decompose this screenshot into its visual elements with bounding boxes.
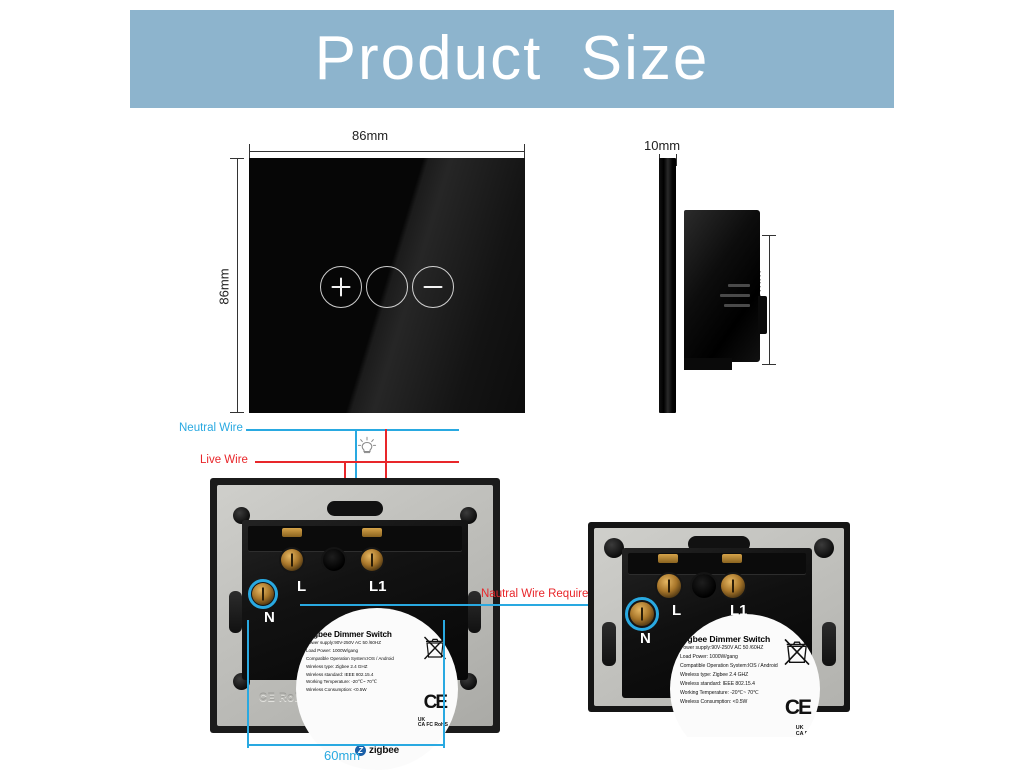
increase-button[interactable] — [320, 266, 362, 308]
neutral-wire-label: Neutral Wire — [179, 422, 243, 434]
inset-label-l: L — [672, 602, 681, 619]
inset-ce-mark: CE — [785, 696, 810, 720]
inset-screw-hole — [604, 538, 624, 558]
terminal-clamp-l — [282, 528, 302, 537]
front-height-tick-top — [230, 158, 244, 159]
zigbee-wordmark: zigbee — [369, 745, 399, 756]
live-wire-horizontal — [255, 461, 459, 463]
inset-spec-line: Wireless type: Zigbee 2.4 GHZ — [680, 671, 815, 680]
side-thickness-label: 10mm — [644, 138, 680, 153]
front-width-tick-left — [249, 144, 250, 158]
spec-line: Working Temperature: -20℃~ 70℃ — [306, 678, 452, 686]
inset-clamp-l — [658, 554, 678, 563]
mount-leader-left — [247, 620, 249, 712]
power-button[interactable] — [366, 266, 408, 308]
ca-mark: CA — [418, 722, 425, 728]
front-height-dim-line — [237, 158, 238, 413]
top-mounting-slot — [327, 501, 383, 516]
product-size-page: Product Size 86mm 86mm 10mm 25mm — [0, 0, 1024, 768]
spec-line: Wireless type: Zigbee 2.4 GHZ — [306, 663, 452, 671]
page-banner: Product Size — [130, 10, 894, 108]
neutral-terminal-highlight — [248, 579, 278, 609]
vent-slot — [720, 294, 750, 297]
inset-product-spec-label: Zigbee Dimmer Switch Power supply:90V-25… — [670, 614, 820, 737]
side-module-notch — [684, 358, 732, 370]
switch-front-view — [249, 158, 525, 413]
inset-fc-mark: FC — [805, 731, 812, 737]
neutral-wire-horizontal — [246, 429, 459, 431]
front-height-label: 86mm — [217, 268, 232, 304]
inset-clamp-l1 — [722, 554, 742, 563]
side-clip-right — [468, 591, 481, 633]
plus-icon-vertical — [340, 278, 342, 297]
inset-outer-frame: L L1 N Zigbee Dimmer Switch Power supply… — [588, 522, 850, 712]
screw-slot — [371, 554, 373, 567]
mount-width-label: 60mm — [324, 748, 360, 763]
terminal-hole-center — [323, 549, 345, 571]
product-spec-label: Zigbee Dimmer Switch Power supply:90V-25… — [296, 608, 458, 770]
inset-crossed-out-wheelie-bin-icon — [782, 636, 812, 668]
minus-icon — [424, 286, 443, 288]
touch-button-row — [249, 264, 525, 310]
inset-screw-hole — [814, 538, 834, 558]
light-bulb-icon — [356, 434, 378, 458]
inset-terminal-hole — [692, 574, 716, 598]
terminal-label-l: L — [297, 578, 306, 595]
vent-slot — [728, 284, 750, 287]
screw-slot — [291, 554, 293, 567]
inset-electronics-module: L L1 N Zigbee Dimmer Switch Power supply… — [622, 548, 812, 698]
terminal-label-l1: L1 — [369, 578, 387, 595]
screw-slot — [732, 580, 734, 593]
inset-label-n: N — [640, 630, 651, 647]
terminal-label-n: N — [264, 609, 275, 626]
inset-neutral-highlight — [625, 597, 659, 631]
terminal-screw-l — [281, 549, 303, 571]
front-width-dim-line — [249, 151, 525, 152]
live-wire-label: Live Wire — [200, 454, 248, 466]
terminal-screw-l1 — [361, 549, 383, 571]
inset-terminal-l — [657, 574, 681, 598]
inset-side-clip-right — [822, 622, 836, 666]
inset-compliance-marks: UK CA FC — [796, 726, 812, 737]
front-width-label: 86mm — [352, 128, 388, 143]
front-height-tick-bottom — [230, 412, 244, 413]
mount-width-dim-line — [247, 744, 444, 746]
inset-terminal-l1 — [721, 574, 745, 598]
front-glass-panel — [249, 158, 525, 413]
front-width-tick-right — [524, 144, 525, 158]
side-clip-left — [229, 591, 242, 633]
side-back-module — [684, 210, 760, 362]
switch-back-view-zoom: L L1 N Zigbee Dimmer Switch Power supply… — [588, 522, 850, 737]
side-glass-plate — [659, 158, 676, 413]
vent-slot — [724, 304, 750, 307]
neutral-required-leader — [300, 604, 590, 606]
inset-side-clip-left — [602, 622, 616, 666]
decrease-button[interactable] — [412, 266, 454, 308]
fc-mark: FC — [426, 722, 433, 728]
mount-leader-right — [443, 620, 445, 712]
inset-ca-mark: CA — [796, 731, 804, 737]
zigbee-brand: Z zigbee — [296, 745, 458, 756]
neutral-required-label: Nautral Wire Required — [481, 588, 595, 600]
switch-side-view — [659, 158, 819, 413]
terminal-clamp-l1 — [362, 528, 382, 537]
spec-line: Wireless standard: IEEE 802.15.4 — [306, 671, 452, 679]
rohs-mark: RoHS — [434, 722, 448, 728]
page-title: Product Size — [315, 28, 710, 90]
screw-slot — [668, 580, 670, 593]
back-electronics-module: L L1 N Zigbee Dimmer Switch Power supply… — [242, 520, 468, 680]
inset-spec-line: Wireless standard: IEEE 802.15.4 — [680, 680, 815, 689]
